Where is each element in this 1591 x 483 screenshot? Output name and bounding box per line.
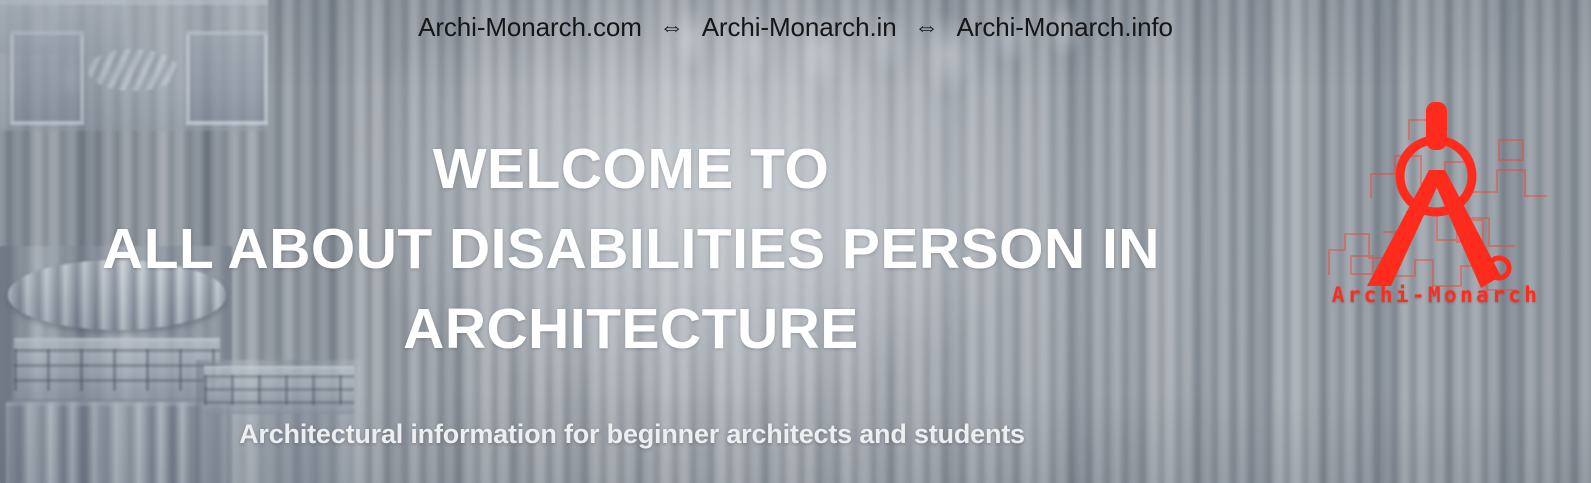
headline-line-3: ARCHITECTURE	[0, 289, 1262, 369]
hero-headline: WELCOME TO ALL ABOUT DISABILITIES PERSON…	[0, 129, 1262, 369]
headline-line-1: WELCOME TO	[0, 129, 1262, 209]
hero-subtitle: Architectural information for beginner a…	[0, 419, 1264, 450]
nav-link-archi-monarch-com[interactable]: Archi-Monarch.com	[418, 12, 642, 42]
hero-content: Archi-Monarch.com ⇔ Archi-Monarch.in ⇔ A…	[0, 0, 1591, 483]
double-arrow-icon: ⇔	[659, 13, 684, 42]
double-arrow-icon: ⇔	[914, 13, 939, 42]
drafting-compass-icon	[1333, 100, 1539, 290]
nav-link-archi-monarch-info[interactable]: Archi-Monarch.info	[957, 12, 1173, 42]
archi-monarch-logo[interactable]: Archi-Monarch	[1311, 100, 1561, 320]
domain-nav: Archi-Monarch.com ⇔ Archi-Monarch.in ⇔ A…	[0, 12, 1591, 43]
logo-wordmark: Archi-Monarch	[1311, 283, 1561, 307]
headline-line-2: ALL ABOUT DISABILITIES PERSON IN	[0, 209, 1262, 289]
site-hero-banner: Archi-Monarch.com ⇔ Archi-Monarch.in ⇔ A…	[0, 0, 1591, 483]
nav-link-archi-monarch-in[interactable]: Archi-Monarch.in	[702, 12, 897, 42]
